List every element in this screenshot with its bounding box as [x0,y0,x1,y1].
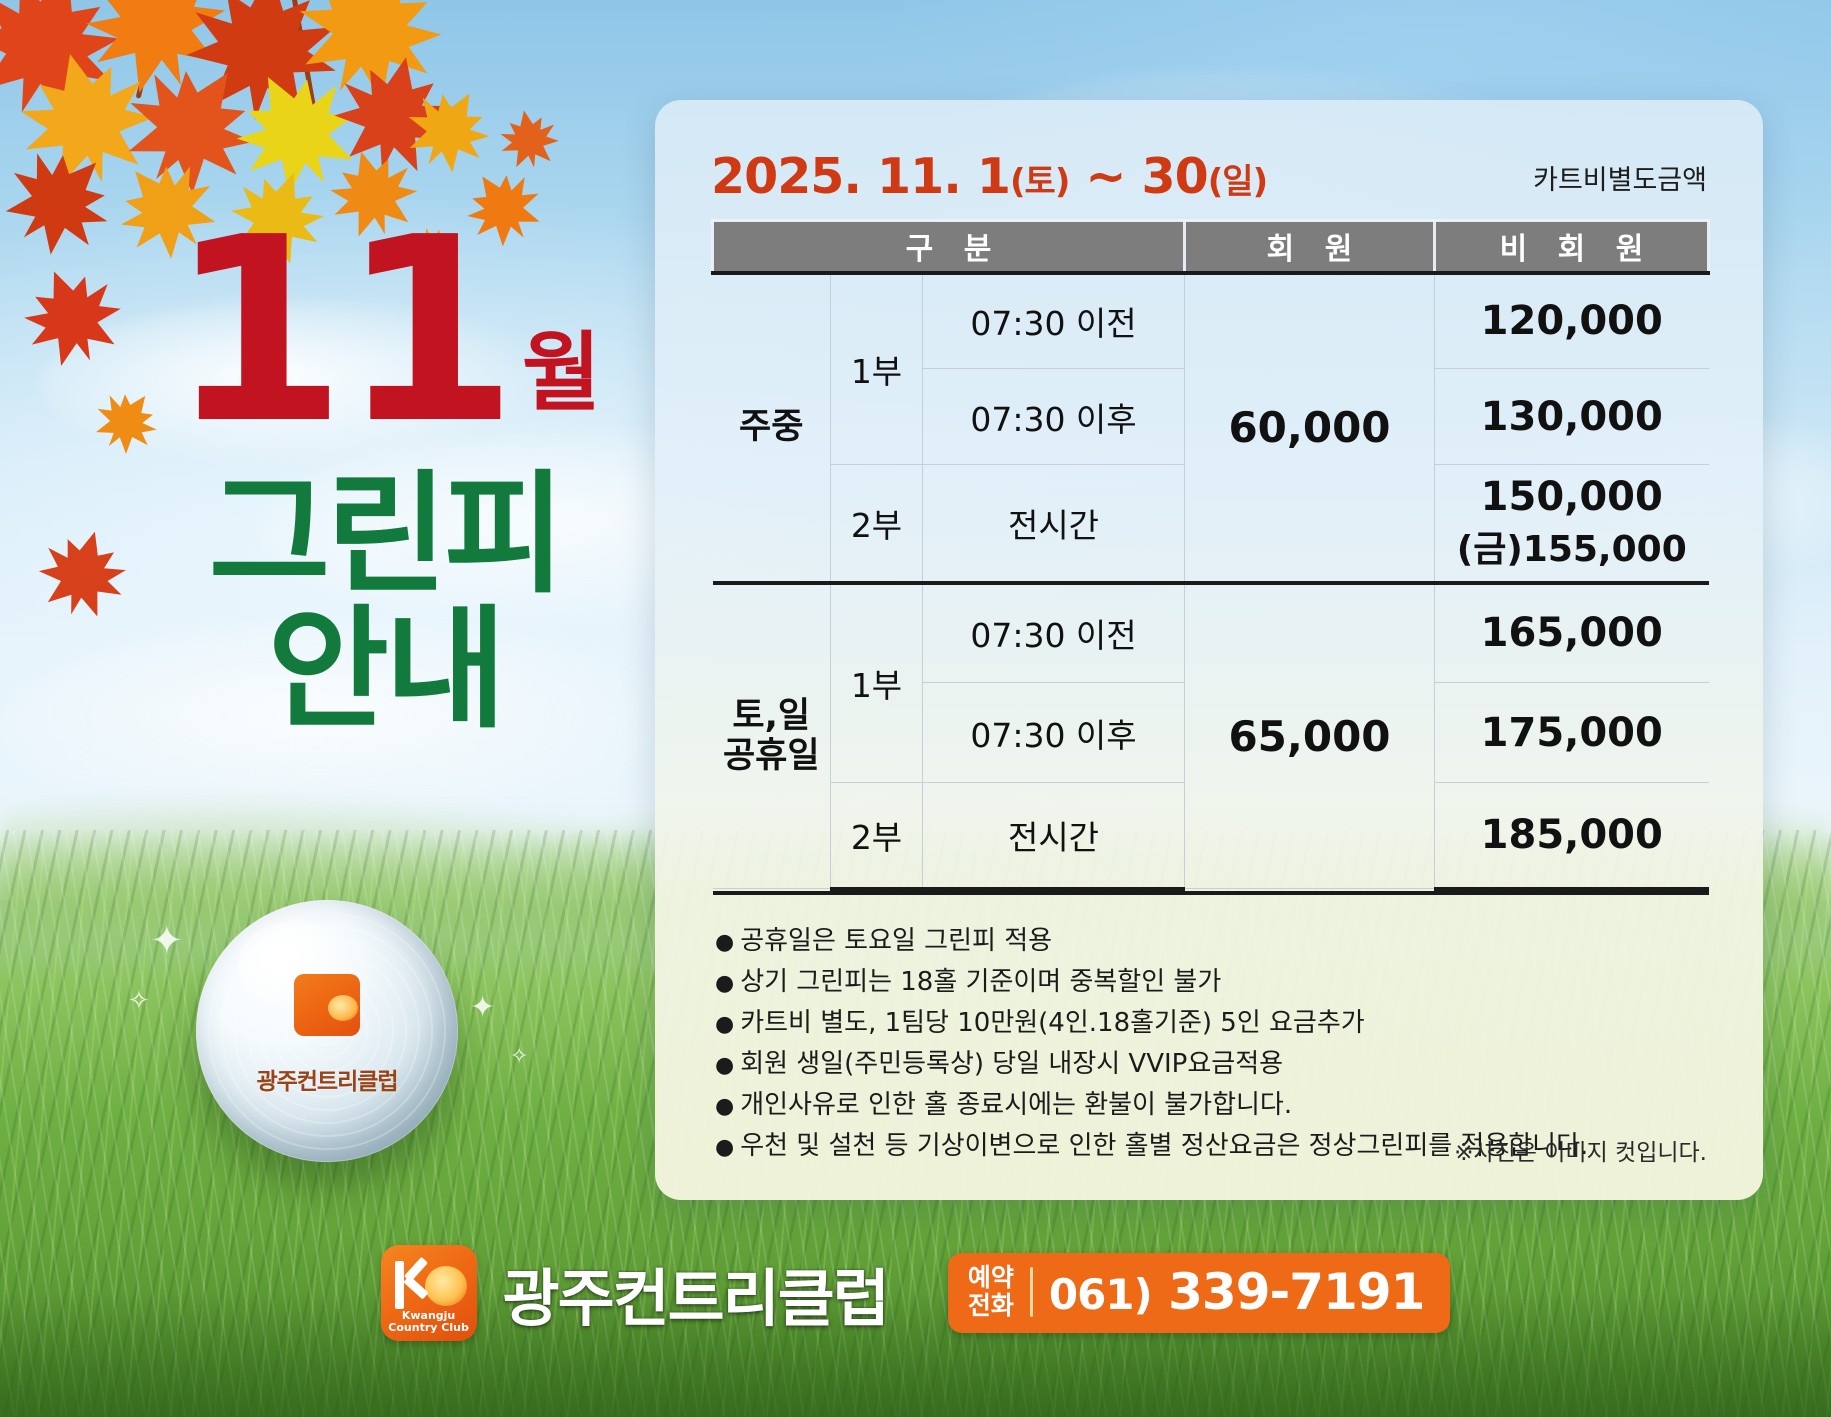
photo-disclaimer: ※사진은 이미지 컷입니다. [1454,1133,1707,1167]
cell-nonmember-185000: 185,000 [1435,783,1709,889]
cell-nonmember-175000: 175,000 [1435,683,1709,783]
note-text: 공휴일은 토요일 그린피 적용 [740,926,1052,956]
date-day-sat: (토) [1010,162,1069,202]
header-nonmember: 비 회 원 [1435,221,1709,273]
cell-time-alltimes: 전시간 [923,465,1185,583]
bullet-icon: ● [715,1135,734,1160]
date-range-title: 2025. 11. 1(토) ~ 30(일) [711,148,1267,205]
date-main: 2025. 11. 1 [711,148,1010,205]
date-tilde: ~ 30 [1069,148,1207,205]
reservation-phone-pill[interactable]: 예약 전화 061) 339-7191 [948,1253,1451,1333]
logo-caption: Kwangju Country Club [381,1310,477,1334]
note-text: 카트비 별도, 1팀당 10만원(4인.18홀기준) 5인 요금추가 [740,1008,1365,1038]
cell-member-weekday: 60,000 [1185,273,1435,583]
note-item: ●개인사유로 인한 홀 종료시에는 환불이 불가합니다. [711,1085,1707,1126]
cell-time-before730: 07:30 이전 [923,583,1185,683]
header-division: 구 분 [713,221,1185,273]
sparkle-icon: ✧ [128,986,150,1016]
nonmember-friday-price: (금)155,000 [1435,520,1709,572]
phone-rest: 339-7191 [1152,1263,1425,1321]
poster-title-block: 11 월 그린피 안내 [150,230,620,733]
month-number: 11 [169,230,512,434]
golf-ball: 광주컨트리클럽 [196,900,458,1162]
bullet-icon: ● [715,1094,734,1119]
panel-header-row: 2025. 11. 1(토) ~ 30(일) 카트비별도금액 [711,148,1707,205]
phone-number: 061) 339-7191 [1049,1263,1425,1321]
cell-part-1: 1부 [831,583,923,783]
bullet-icon: ● [715,1012,734,1037]
logo-k-stroke [395,1261,404,1309]
club-logo-icon [294,974,360,1036]
cell-part-1: 1부 [831,273,923,465]
cell-part-2: 2부 [831,465,923,583]
month-word: 월 [522,330,601,416]
greenfee-price-table: 구 분 회 원 비 회 원 주중 1부 07:30 이전 60,000 120,… [711,219,1710,895]
title-line-greenfee: 그린피 [150,472,620,599]
bullet-icon: ● [715,1053,734,1078]
cell-part-2: 2부 [831,783,923,889]
sparkle-icon: ✦ [470,990,495,1025]
nonmember-base-price: 150,000 [1481,474,1663,520]
cell-nonmember-130000: 130,000 [1435,369,1709,465]
bullet-icon: ● [715,930,734,955]
cell-nonmember-120000: 120,000 [1435,273,1709,369]
cell-nonmember-150000: 150,000 (금)155,000 [1435,465,1709,583]
footer-bar: Kwangju Country Club 광주컨트리클럽 예약 전화 061) … [0,1225,1831,1360]
note-item: ●회원 생일(주민등록상) 당일 내장시 VVIP요금적용 [711,1044,1707,1085]
cell-daytype-weekday: 주중 [713,273,831,583]
price-panel: 2025. 11. 1(토) ~ 30(일) 카트비별도금액 구 분 회 원 비… [655,100,1763,1200]
header-member: 회 원 [1185,221,1435,273]
sparkle-icon: ✦ [150,918,184,964]
title-line-guide: 안내 [150,607,620,734]
table-row: 주중 1부 07:30 이전 60,000 120,000 [713,273,1709,369]
bullet-icon: ● [715,971,734,996]
note-text: 개인사유로 인한 홀 종료시에는 환불이 불가합니다. [740,1090,1292,1120]
month-row: 11 월 [150,230,620,434]
phone-label: 예약 전화 [968,1264,1014,1320]
ball-brand-text: 광주컨트리클럽 [256,1062,397,1096]
table-header-row: 구 분 회 원 비 회 원 [713,221,1709,273]
divider [1030,1267,1033,1317]
phone-area-code: 061) [1049,1270,1152,1319]
cell-time-alltimes: 전시간 [923,783,1185,889]
cell-time-after730: 07:30 이후 [923,369,1185,465]
sparkle-icon: ✧ [510,1044,528,1069]
cell-time-before730: 07:30 이전 [923,273,1185,369]
note-item: ●상기 그린피는 18홀 기준이며 중복할인 불가 [711,962,1707,1003]
cell-nonmember-165000: 165,000 [1435,583,1709,683]
note-text: 회원 생일(주민등록상) 당일 내장시 VVIP요금적용 [740,1049,1283,1079]
cell-member-weekend: 65,000 [1185,583,1435,889]
notes-list: ●공휴일은 토요일 그린피 적용 ●상기 그린피는 18홀 기준이며 중복할인 … [711,921,1707,1167]
date-day-sun: (일) [1208,162,1267,202]
note-text: 상기 그린피는 18홀 기준이며 중복할인 불가 [740,967,1221,997]
cart-fee-note: 카트비별도금액 [1533,158,1707,205]
table-row: 토,일 공휴일 1부 07:30 이전 65,000 165,000 [713,583,1709,683]
sun-icon [425,1266,467,1306]
note-item: ●공휴일은 토요일 그린피 적용 [711,921,1707,962]
cell-time-after730: 07:30 이후 [923,683,1185,783]
cell-daytype-weekend: 토,일 공휴일 [713,583,831,889]
note-item: ●카트비 별도, 1팀당 10만원(4인.18홀기준) 5인 요금추가 [711,1003,1707,1044]
brand-name: 광주컨트리클럽 [503,1248,888,1338]
club-logo-icon: Kwangju Country Club [381,1245,477,1341]
